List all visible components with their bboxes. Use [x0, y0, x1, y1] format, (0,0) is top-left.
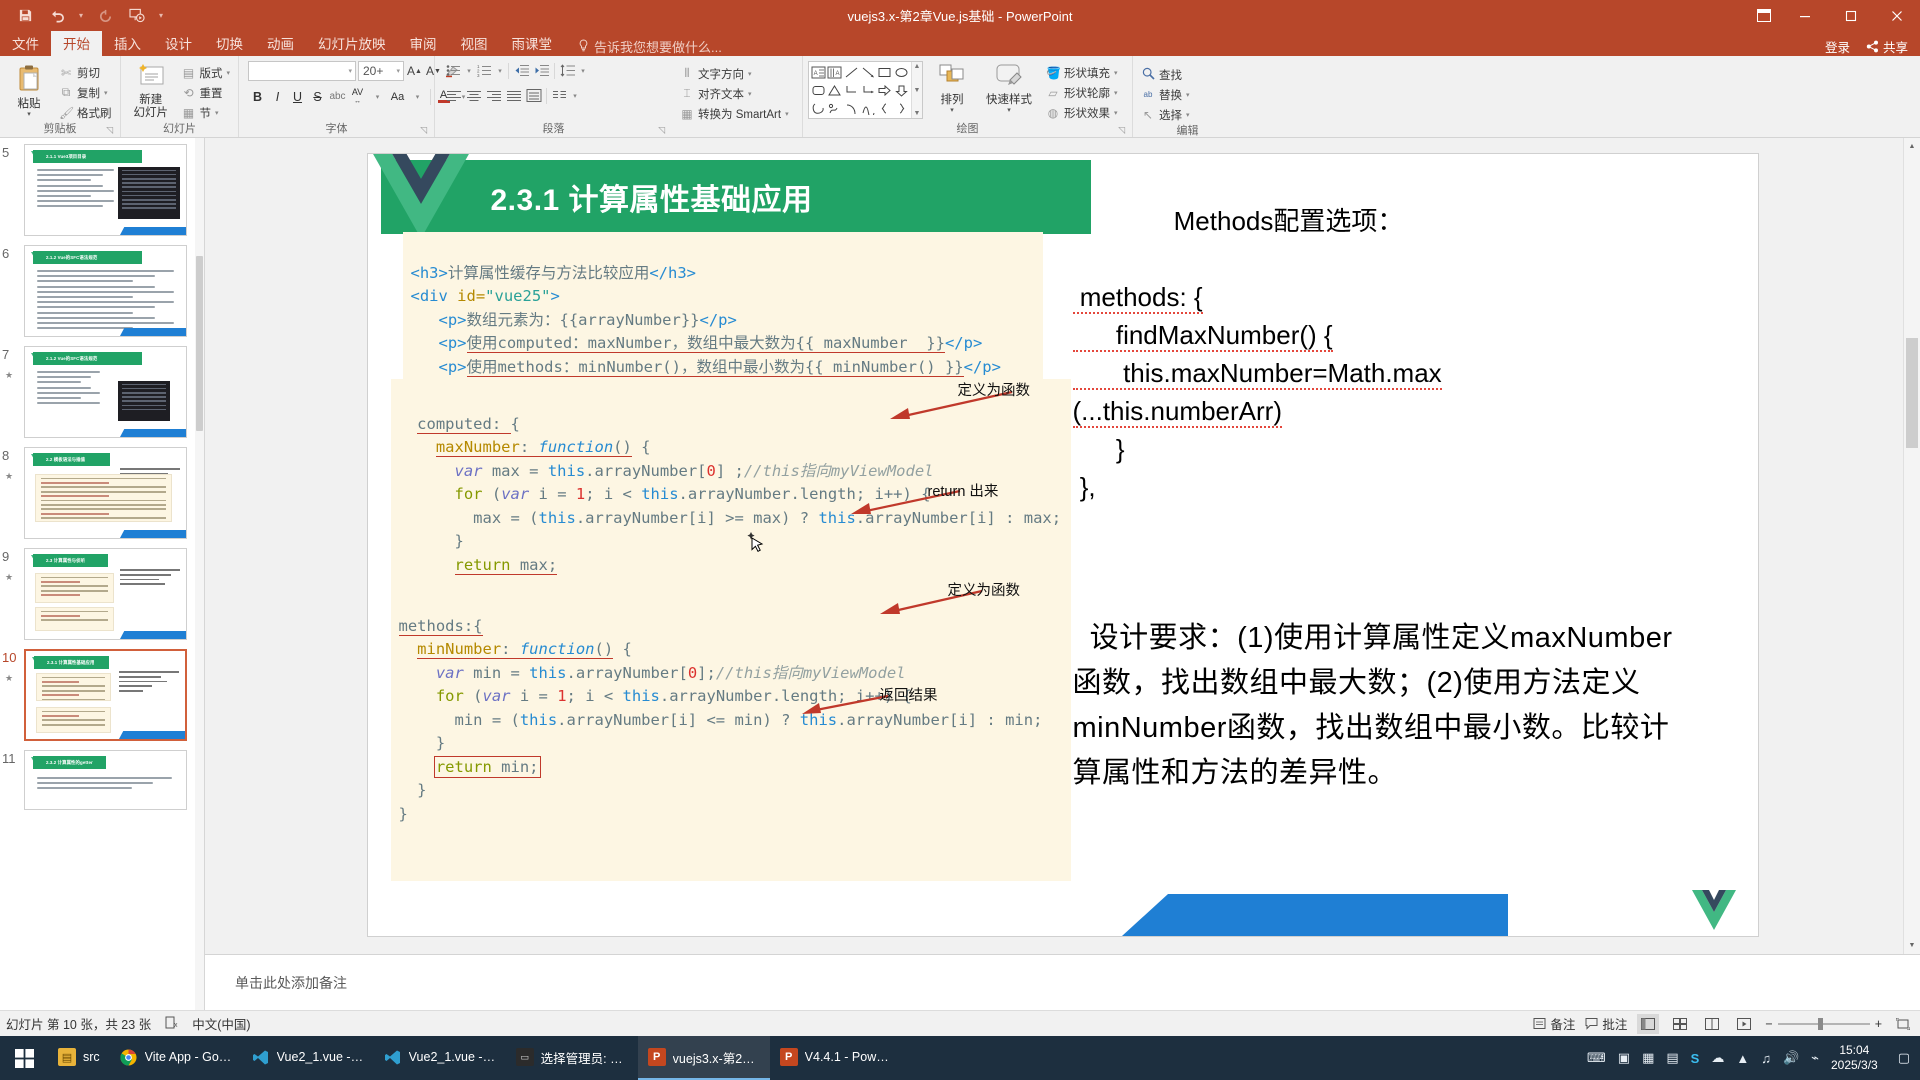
account-area: 登录 共享 — [1825, 37, 1920, 56]
redo-icon[interactable] — [90, 3, 120, 29]
notes-pane[interactable]: 单击此处添加备注 — [205, 954, 1920, 1010]
paste-label: 粘贴 — [18, 98, 41, 111]
annotation-arrow-4 — [800, 694, 892, 718]
thumbnail-title-bar: 2.1.2 Vue的SFC语法规范 — [33, 352, 142, 365]
sign-in-link[interactable]: 登录 — [1825, 37, 1850, 56]
text-direction-label: 文字方向 — [698, 66, 744, 82]
window-title: vuejs3.x-第2章Vue.js基础 - PowerPoint — [0, 6, 1920, 25]
thumbnail-preview: 2.1.1 Vue3项目目录 — [24, 144, 187, 236]
new-slide-icon — [136, 63, 166, 94]
taskbar-item-powerpoint-2[interactable]: P V4.4.1 - PowerPoi... — [770, 1036, 902, 1080]
slide-title-shape[interactable]: 2.3.1 计算属性基础应用 — [381, 160, 1091, 234]
strikethrough-button[interactable]: S — [308, 87, 327, 106]
tab-slideshow[interactable]: 幻灯片放映 — [306, 31, 398, 56]
replace-label: 替换 — [1159, 87, 1182, 103]
quick-access-toolbar: ▾ ▾ — [0, 3, 168, 29]
font-size-value: 20+ — [363, 64, 383, 78]
line-spacing-caret-icon[interactable]: ▾ — [578, 61, 588, 80]
zoom-out-icon[interactable]: − — [1765, 1017, 1772, 1031]
language-indicator[interactable]: 中文(中国) — [192, 1014, 250, 1033]
thumbnail-slide-11[interactable]: 11 2.3.2 计算属性的getter — [24, 750, 190, 810]
svg-text:x: x — [174, 1022, 178, 1029]
arrange-button[interactable]: 排列 ▾ — [929, 61, 975, 114]
ribbon-group-textoptions: ⦀ 文字方向 ▾ ⌶ 对齐文本 ▾ ▦ 转换为 SmartArt ▾ — [672, 56, 802, 137]
tell-me-label: 告诉我您想要做什么... — [594, 37, 722, 56]
shape-fill-caret-icon[interactable]: ▾ — [1114, 69, 1118, 77]
thumbnail-number: 10 — [2, 650, 16, 665]
vscode-icon — [384, 1048, 402, 1066]
freeform-shape-icon[interactable] — [810, 99, 827, 117]
shape-outline-caret-icon[interactable]: ▾ — [1114, 89, 1118, 97]
shape-fill-icon: 🪣 — [1046, 66, 1060, 80]
thumbnail-slide-6[interactable]: 6 2.1.2 Vue的SFC语法规范 — [24, 245, 190, 337]
annotation-return-out: return 出来 — [928, 480, 999, 501]
tray-icon-cloud[interactable]: ☁ — [1711, 1050, 1724, 1066]
share-button[interactable]: 共享 — [1866, 37, 1908, 56]
thumbnail-code-block — [36, 673, 111, 701]
align-text-button[interactable]: ⌶ 对齐文本 ▾ — [677, 84, 792, 103]
paragraph-separator-1 — [508, 63, 509, 79]
tray-icon-app3[interactable]: ▤ — [1666, 1050, 1678, 1066]
font-name-combobox[interactable]: ▾ — [248, 61, 356, 81]
clipboard-small-commands: ✄ 剪切 ⧉ 复制 ▾ 🖌 格式刷 — [56, 61, 115, 122]
powerpoint-window: ▾ ▾ vuejs3.x-第2章Vue.js基础 - PowerPoint — [0, 0, 1920, 1080]
change-case-button[interactable]: Aa — [388, 87, 407, 106]
taskbar-label: 选择管理员: C:\Wi... — [541, 1048, 628, 1067]
reset-button[interactable]: ⟲ 重置 — [178, 83, 233, 102]
taskbar-item-src[interactable]: ▤ src — [48, 1036, 110, 1080]
methods-code-block[interactable]: methods:{ minNumber: function() { var mi… — [391, 581, 1071, 881]
notes-placeholder: 单击此处添加备注 — [235, 973, 347, 993]
font-group-label: 字体 ◹ — [244, 122, 429, 137]
paste-caret-icon[interactable]: ▾ — [27, 111, 31, 118]
thumbnail-blue-banner — [119, 731, 187, 739]
select-caret-icon[interactable]: ▾ — [1186, 111, 1190, 119]
down-arrow-shape-icon[interactable] — [893, 81, 910, 99]
slide-sorter-button[interactable] — [1669, 1014, 1691, 1034]
align-right-button[interactable] — [484, 86, 503, 105]
scroll-down-icon[interactable]: ▼ — [1904, 937, 1920, 954]
ribbon-group-clipboard: 粘贴 ▾ ✄ 剪切 ⧉ 复制 ▾ 🖌 格式刷 — [0, 56, 120, 137]
tab-home[interactable]: 开始 — [51, 31, 102, 56]
tab-transitions[interactable]: 切换 — [204, 31, 255, 56]
thumbnail-number: 8 — [2, 448, 9, 463]
shape-effects-label: 形状效果 — [1064, 105, 1110, 121]
powerpoint-icon: P — [648, 1048, 666, 1066]
zoom-slider[interactable]: − + — [1765, 1017, 1882, 1031]
select-button[interactable]: ↖ 选择 ▾ — [1138, 105, 1193, 124]
close-button[interactable] — [1874, 0, 1920, 31]
rectangle-shape-icon[interactable] — [877, 63, 894, 81]
ribbon: 粘贴 ▾ ✄ 剪切 ⧉ 复制 ▾ 🖌 格式刷 — [0, 56, 1920, 138]
tab-file[interactable]: 文件 — [0, 31, 51, 56]
methods-config-code-line2: findMaxNumber() { — [1073, 316, 1673, 354]
reading-view-button[interactable] — [1701, 1014, 1723, 1034]
slides-group-label: 幻灯片 — [126, 122, 233, 137]
design-requirement-text: 设计要求：(1)使用计算属性定义maxNumber函数，找出数组中最大数；(2)… — [1073, 616, 1673, 796]
ribbon-group-font: ▾ 20+ ▾ A▲ A▼ B I U S — [238, 56, 434, 137]
clipboard-dialog-launcher-icon[interactable]: ◹ — [106, 123, 113, 138]
paragraph-row-2: ▾ — [444, 86, 580, 105]
tray-icon-app1[interactable]: ▣ — [1618, 1050, 1630, 1066]
lightbulb-icon — [578, 39, 589, 55]
fit-slide-to-window-button[interactable] — [1892, 1014, 1914, 1034]
line-shape-icon[interactable] — [843, 63, 860, 81]
text-shadow-button[interactable]: abc — [328, 87, 347, 106]
new-slide-button[interactable]: 新建 幻灯片 — [126, 61, 175, 120]
justify-button[interactable] — [504, 86, 523, 105]
select-label: 选择 — [1159, 107, 1182, 123]
shapes-more-icon[interactable]: ▼ — [914, 110, 921, 117]
thumbnail-title-bar: 2.2 模板语法与插值 — [33, 453, 110, 466]
taskbar-clock[interactable]: 15:04 2025/3/3 — [1831, 1043, 1886, 1073]
share-label: 共享 — [1883, 37, 1908, 56]
undo-dropdown-icon[interactable]: ▾ — [74, 3, 88, 29]
system-tray: ⌨ ▣ ▦ ▤ S ☁ ▲ ♫ 🔊 ⌁ 15:04 2025/3/3 ▢ — [1587, 1043, 1920, 1073]
zoom-in-icon[interactable]: + — [1875, 1017, 1882, 1031]
thumbnail-blue-banner — [120, 328, 187, 336]
thumbnail-title-bar: 2.3.1 计算属性基础应用 — [34, 656, 109, 669]
scribble-shape-icon[interactable] — [827, 99, 844, 117]
font-size-caret-icon[interactable]: ▾ — [396, 67, 400, 75]
underline-button[interactable]: U — [288, 87, 307, 106]
arrange-caret-icon[interactable]: ▾ — [950, 107, 954, 114]
move-cursor-icon — [746, 532, 768, 556]
tray-icon-app2[interactable]: ▦ — [1642, 1050, 1654, 1066]
character-spacing-button[interactable]: AV↔ — [348, 87, 367, 106]
replace-icon: ab — [1141, 90, 1155, 99]
shape-effects-caret-icon[interactable]: ▾ — [1114, 109, 1118, 117]
thumbnail-scrollbar[interactable] — [195, 138, 204, 1010]
arc-shape-icon[interactable] — [843, 99, 860, 117]
paste-icon — [14, 63, 44, 98]
elbow-connector-icon[interactable] — [843, 81, 860, 99]
thumbnail-body-lines — [37, 169, 114, 211]
thumbnail-title-bar: 2.3 计算属性与侦听 — [33, 554, 108, 567]
font-name-caret-icon[interactable]: ▾ — [348, 67, 352, 75]
taskbar-label: Vite App - Googl... — [145, 1050, 232, 1064]
shapes-gallery[interactable]: A A — [808, 61, 923, 119]
replace-button[interactable]: ab 替换 ▾ — [1138, 85, 1193, 104]
replace-caret-icon[interactable]: ▾ — [1186, 91, 1190, 99]
align-left-button[interactable] — [444, 86, 463, 105]
text-direction-caret-icon[interactable]: ▾ — [748, 70, 752, 78]
animation-star-icon: ★ — [5, 572, 13, 583]
bold-button[interactable]: B — [248, 87, 267, 106]
taskbar-item-terminal[interactable]: ▭ 选择管理员: C:\Wi... — [506, 1036, 638, 1080]
textoptions-spacer — [677, 123, 797, 137]
numbering-caret-icon[interactable]: ▾ — [495, 61, 505, 80]
tray-icon-network[interactable]: ⌁ — [1811, 1050, 1819, 1066]
thumbnail-number: 5 — [2, 145, 9, 160]
terminal-icon: ▭ — [516, 1048, 534, 1066]
slide-thumbnail-pane[interactable]: 5 2.1.1 Vue3项目目录 6 2.1.2 Vue的SFC语法规范 — [0, 138, 205, 1010]
customize-qat-icon[interactable]: ▾ — [154, 3, 168, 29]
thumbnail-number: 9 — [2, 549, 9, 564]
shapes-scroll-down-icon[interactable]: ▼ — [914, 87, 921, 94]
status-left: 幻灯片 第 10 张，共 23 张 x 中文(中国) — [6, 1014, 251, 1033]
zoom-track[interactable] — [1778, 1023, 1870, 1025]
tab-design[interactable]: 设计 — [153, 31, 204, 56]
shape-outline-button[interactable]: ▱ 形状轮廓 ▾ — [1043, 83, 1121, 102]
ribbon-group-paragraph: ▾ 123 ▾ ▾ — [434, 56, 672, 137]
increase-indent-button[interactable] — [532, 61, 551, 80]
font-size-combobox[interactable]: 20+ ▾ — [358, 61, 404, 81]
taskbar-label: vuejs3.x-第2章Vue... — [673, 1048, 760, 1067]
tab-animations[interactable]: 动画 — [255, 31, 306, 56]
taskbar-item-powerpoint-active[interactable]: P vuejs3.x-第2章Vue... — [638, 1036, 770, 1080]
thumbnail-blue-banner — [120, 227, 187, 235]
slide-canvas: 2.3.1 计算属性基础应用 <h3>计算属性缓存与方法比较应用</h3><di… — [205, 138, 1920, 954]
editing-group-label: 编辑 — [1138, 124, 1237, 139]
thumbnail-number: 7 — [2, 347, 9, 362]
svg-text:3: 3 — [477, 73, 480, 77]
layout-button[interactable]: ▤ 版式 ▾ — [178, 63, 233, 82]
layout-caret-icon[interactable]: ▾ — [226, 69, 230, 77]
shape-outline-label: 形状轮廓 — [1064, 85, 1110, 101]
right-brace-shape-icon[interactable] — [893, 99, 910, 117]
thumbnail-code-panel — [118, 381, 170, 421]
ribbon-group-slides: 新建 幻灯片 ▤ 版式 ▾ ⟲ 重置 ▦ 节 — [120, 56, 238, 137]
thumbnail-code-panel — [118, 167, 180, 219]
arrange-label: 排列 — [941, 94, 964, 107]
annotation-define-as-function-2: 定义为函数 — [948, 579, 1021, 600]
accessibility-icon[interactable]: x — [165, 1016, 178, 1032]
scroll-up-icon[interactable]: ▲ — [1904, 138, 1920, 155]
minimize-button[interactable] — [1782, 0, 1828, 31]
text-direction-button[interactable]: ⦀ 文字方向 ▾ — [677, 64, 792, 83]
section-button[interactable]: ▦ 节 ▾ — [178, 103, 233, 122]
slides-small-commands: ▤ 版式 ▾ ⟲ 重置 ▦ 节 ▾ — [178, 61, 233, 122]
thumbnail-preview: 2.1.2 Vue的SFC语法规范 — [24, 245, 187, 337]
new-slide-label-line1: 新建 — [139, 94, 162, 107]
font-dialog-launcher-icon[interactable]: ◹ — [420, 123, 427, 138]
ribbon-display-options-icon[interactable] — [1746, 0, 1782, 31]
windows-taskbar: ▤ src Vite App - Googl... Vue2_1.vue - c… — [0, 1036, 1920, 1080]
thumbnail-slide-7[interactable]: 7 ★ 2.1.2 Vue的SFC语法规范 — [24, 346, 190, 438]
align-text-caret-icon[interactable]: ▾ — [748, 90, 752, 98]
text-options-commands: ⦀ 文字方向 ▾ ⌶ 对齐文本 ▾ ▦ 转换为 SmartArt ▾ — [677, 62, 792, 123]
paragraph-separator-2 — [554, 63, 555, 79]
methods-config-code-line3: this.maxNumber=Math.max — [1073, 354, 1673, 392]
undo-icon[interactable] — [42, 3, 72, 29]
right-text-column[interactable]: Methods配置选项： methods: { findMaxNumber() … — [1073, 164, 1673, 796]
format-painter-button[interactable]: 🖌 格式刷 — [56, 103, 115, 122]
left-brace-shape-icon[interactable] — [877, 99, 894, 117]
taskbar-item-chrome[interactable]: Vite App - Googl... — [110, 1036, 242, 1080]
section-icon: ▦ — [181, 106, 195, 120]
textbox-shape-icon[interactable]: A — [810, 63, 827, 81]
smartart-caret-icon[interactable]: ▾ — [785, 110, 789, 118]
vertical-textbox-shape-icon[interactable]: A — [827, 63, 844, 81]
tab-insert[interactable]: 插入 — [102, 31, 153, 56]
bullets-button[interactable] — [444, 61, 463, 80]
taskbar-label: Vue2_1.vue - cha... — [277, 1050, 364, 1064]
tab-review[interactable]: 审阅 — [398, 31, 449, 56]
layout-label: 版式 — [199, 65, 222, 81]
copy-button[interactable]: ⧉ 复制 ▾ — [56, 83, 115, 102]
chrome-icon — [120, 1048, 138, 1066]
thumbnail-blue-banner — [120, 530, 187, 538]
taskbar-label: V4.4.1 - PowerPoi... — [805, 1050, 892, 1064]
arrange-icon — [938, 63, 966, 94]
current-slide[interactable]: 2.3.1 计算属性基础应用 <h3>计算属性缓存与方法比较应用</h3><di… — [368, 154, 1758, 936]
font-name-size-row: ▾ 20+ ▾ A▲ A▼ — [248, 61, 461, 81]
thumbnail-preview: 2.2 模板语法与插值 — [24, 447, 187, 539]
tray-icon-keyboard[interactable]: ⌨ — [1587, 1050, 1606, 1066]
numbering-button[interactable]: 123 — [475, 61, 494, 80]
tray-icon-music[interactable]: ♫ — [1761, 1051, 1771, 1066]
drawing-dialog-launcher-icon[interactable]: ◹ — [1118, 123, 1125, 138]
elbow-arrow-connector-icon[interactable] — [860, 81, 877, 99]
save-icon[interactable] — [10, 3, 40, 29]
thumbnail-slide-9[interactable]: 9 ★ 2.3 计算属性与侦听 — [24, 548, 190, 640]
distribute-button[interactable] — [524, 86, 543, 105]
convert-smartart-button[interactable]: ▦ 转换为 SmartArt ▾ — [677, 104, 792, 123]
taskbar-item-vscode-2[interactable]: Vue2_1.vue - Visu... — [374, 1036, 506, 1080]
tray-icon-show-hidden[interactable]: ▲ — [1736, 1051, 1749, 1066]
editing-commands: 查找 ab 替换 ▾ ↖ 选择 ▾ — [1138, 63, 1193, 124]
curve-shape-icon[interactable] — [860, 99, 877, 117]
italic-button[interactable]: I — [268, 87, 287, 106]
paste-button[interactable]: 粘贴 ▾ — [5, 61, 53, 118]
grow-font-button[interactable]: A▲ — [406, 62, 423, 81]
copy-icon: ⧉ — [59, 85, 73, 100]
animation-star-icon: ★ — [5, 673, 13, 684]
thumbnail-code-block-2 — [36, 707, 111, 733]
shape-fill-label: 形状填充 — [1064, 65, 1110, 81]
decrease-indent-button[interactable] — [512, 61, 531, 80]
quick-styles-button[interactable]: 快速样式 ▾ — [981, 61, 1037, 114]
notes-icon — [1533, 1017, 1546, 1030]
shapes-scroll-up-icon[interactable]: ▲ — [914, 63, 921, 70]
thumbnail-slide-10[interactable]: 10 ★ 2.3.1 计算属性基础应用 — [24, 649, 190, 741]
comments-toggle-button[interactable]: 批注 — [1585, 1014, 1627, 1033]
thumbnail-code-block — [35, 573, 114, 603]
thumbnail-blue-banner — [120, 631, 187, 639]
paragraph-dialog-launcher-icon[interactable]: ◹ — [658, 123, 665, 138]
tab-view[interactable]: 视图 — [449, 31, 500, 56]
normal-view-button[interactable] — [1637, 1014, 1659, 1034]
section-caret-icon[interactable]: ▾ — [215, 109, 219, 117]
slideshow-view-button[interactable] — [1733, 1014, 1755, 1034]
pointer-icon: ↖ — [1141, 108, 1155, 122]
shape-effects-button[interactable]: ◍ 形状效果 ▾ — [1043, 103, 1121, 122]
search-icon — [1141, 67, 1155, 83]
arrow-shape-icon[interactable] — [860, 63, 877, 81]
tell-me-box[interactable]: 告诉我您想要做什么... — [564, 37, 722, 56]
right-arrow-shape-icon[interactable] — [877, 81, 894, 99]
cut-button[interactable]: ✄ 剪切 — [56, 63, 115, 82]
title-bar: ▾ ▾ vuejs3.x-第2章Vue.js基础 - PowerPoint — [0, 0, 1920, 31]
taskbar-label: Vue2_1.vue - Visu... — [409, 1050, 496, 1064]
shape-format-commands: 🪣 形状填充 ▾ ▱ 形状轮廓 ▾ ◍ 形状效果 ▾ — [1043, 61, 1121, 122]
tray-icon-volume[interactable]: 🔊 — [1783, 1050, 1799, 1066]
ribbon-tab-bar: 文件 开始 插入 设计 切换 动画 幻灯片放映 审阅 视图 雨课堂 告诉我您想要… — [0, 31, 1920, 56]
align-center-button[interactable] — [464, 86, 483, 105]
zoom-handle[interactable] — [1818, 1018, 1823, 1030]
line-spacing-button[interactable] — [558, 61, 577, 80]
copy-caret-icon[interactable]: ▾ — [104, 89, 108, 97]
rounded-rect-shape-icon[interactable] — [810, 81, 827, 99]
methods-config-title: Methods配置选项： — [1073, 164, 1673, 278]
shapes-grid: A A — [809, 62, 911, 118]
layout-icon: ▤ — [181, 66, 195, 80]
slide-editing-area: 2.3.1 计算属性基础应用 <h3>计算属性缓存与方法比较应用</h3><di… — [205, 138, 1920, 1010]
smartart-icon: ▦ — [680, 107, 694, 121]
thumbnail-title-bar: 2.3.2 计算属性的getter — [33, 756, 106, 769]
ribbon-group-drawing: A A — [802, 56, 1132, 137]
powerpoint-icon: P — [780, 1048, 798, 1066]
align-text-icon: ⌶ — [680, 86, 694, 101]
text-direction-icon: ⦀ — [680, 66, 694, 81]
bullets-caret-icon[interactable]: ▾ — [464, 61, 474, 80]
thumbnail-body-lines — [37, 270, 174, 332]
cut-label: 剪切 — [77, 65, 100, 81]
taskbar-item-vscode-1[interactable]: Vue2_1.vue - cha... — [242, 1036, 374, 1080]
change-case-caret-icon[interactable]: ▾ — [408, 87, 427, 106]
start-button[interactable] — [0, 1036, 48, 1080]
paragraph-separator-3 — [546, 88, 547, 104]
notes-toggle-button[interactable]: 备注 — [1533, 1014, 1575, 1033]
slide-vertical-scrollbar[interactable]: ▲ ▼ — [1903, 138, 1920, 954]
shape-fill-button[interactable]: 🪣 形状填充 ▾ — [1043, 63, 1121, 82]
character-spacing-caret-icon[interactable]: ▾ — [368, 87, 387, 106]
drawing-group-label: 绘图 ◹ — [808, 122, 1127, 137]
methods-config-code-line5: } — [1073, 430, 1673, 468]
quick-styles-label: 快速样式 — [986, 94, 1032, 107]
find-button[interactable]: 查找 — [1138, 65, 1193, 84]
taskbar-label: src — [83, 1050, 100, 1064]
tray-icon-sogou[interactable]: S — [1691, 1051, 1700, 1066]
quick-styles-icon — [994, 63, 1024, 94]
paragraph-row-1: ▾ 123 ▾ ▾ — [444, 61, 588, 80]
slide-scrollbar-thumb[interactable] — [1906, 338, 1918, 448]
slide-title-text: 2.3.1 计算属性基础应用 — [491, 175, 813, 219]
thumbnail-body-lines — [37, 371, 100, 407]
notification-center-icon[interactable]: ▢ — [1898, 1050, 1910, 1066]
main-area: 5 2.1.1 Vue3项目目录 6 2.1.2 Vue的SFC语法规范 — [0, 138, 1920, 1010]
thumbnail-list: 5 2.1.1 Vue3项目目录 6 2.1.2 Vue的SFC语法规范 — [0, 138, 204, 825]
columns-caret-icon[interactable]: ▾ — [570, 86, 580, 105]
columns-button[interactable] — [550, 86, 569, 105]
thumbnail-title-bar: 2.1.2 Vue的SFC语法规范 — [33, 251, 142, 264]
thumbnail-slide-5[interactable]: 5 2.1.1 Vue3项目目录 — [24, 144, 190, 236]
reset-label: 重置 — [199, 85, 222, 101]
maximize-button[interactable] — [1828, 0, 1874, 31]
methods-config-code-line4: (...this.numberArr) — [1073, 392, 1673, 430]
paragraph-group-label: 段落 ◹ — [440, 122, 667, 137]
thumbnail-code-block — [35, 474, 172, 522]
new-slide-label-line2: 幻灯片 — [133, 107, 168, 120]
thumbnail-title-bar: 2.1.1 Vue3项目目录 — [33, 150, 142, 163]
thumbnail-scrollbar-thumb[interactable] — [196, 256, 203, 431]
tab-rainclassroom[interactable]: 雨课堂 — [500, 31, 565, 56]
thumbnail-slide-8[interactable]: 8 ★ 2.2 模板语法与插值 — [24, 447, 190, 539]
annotation-return-result: 返回结果 — [880, 684, 938, 705]
copy-label: 复制 — [77, 85, 100, 101]
scissors-icon: ✄ — [59, 66, 73, 80]
quick-styles-caret-icon[interactable]: ▾ — [1007, 107, 1011, 114]
oval-shape-icon[interactable] — [893, 63, 910, 81]
status-right: 备注 批注 − + — [1533, 1014, 1914, 1034]
svg-text:A: A — [836, 71, 840, 77]
start-slideshow-icon[interactable] — [122, 3, 152, 29]
shape-effects-icon: ◍ — [1046, 106, 1060, 120]
shapes-gallery-scrollbar[interactable]: ▲ ▼ ▼ — [911, 62, 922, 118]
triangle-shape-icon[interactable] — [827, 81, 844, 99]
thumbnail-body-lines — [37, 777, 172, 793]
